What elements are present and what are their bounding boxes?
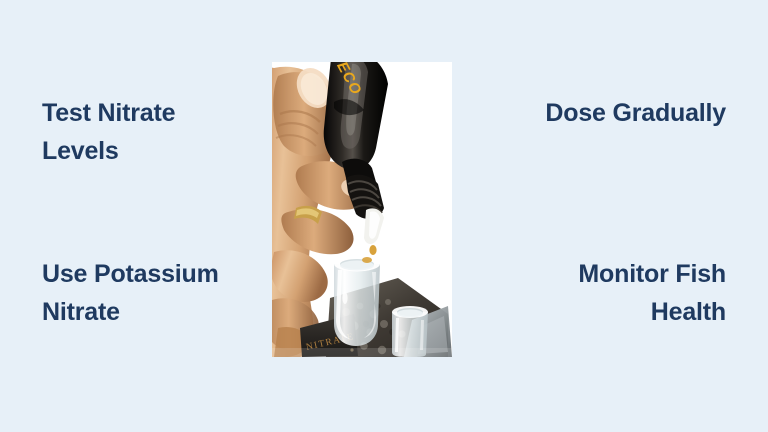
reagent-droplet [369,245,376,255]
callout-monitor-fish-health: Monitor Fish Health [496,255,726,331]
glass-test-vial-main [334,257,380,347]
nitrate-test-kit-photo: F-ECO [272,62,452,357]
infographic-slide: Test Nitrate Levels Dose Gradually Use P… [0,0,768,432]
reagent-in-vial [362,257,372,263]
callout-dose-gradually: Dose Gradually [496,94,726,132]
callout-test-nitrate-levels: Test Nitrate Levels [42,94,257,170]
callout-use-potassium-nitrate: Use Potassium Nitrate [42,255,257,331]
nitrate-test-kit-illustration: F-ECO [272,62,452,357]
